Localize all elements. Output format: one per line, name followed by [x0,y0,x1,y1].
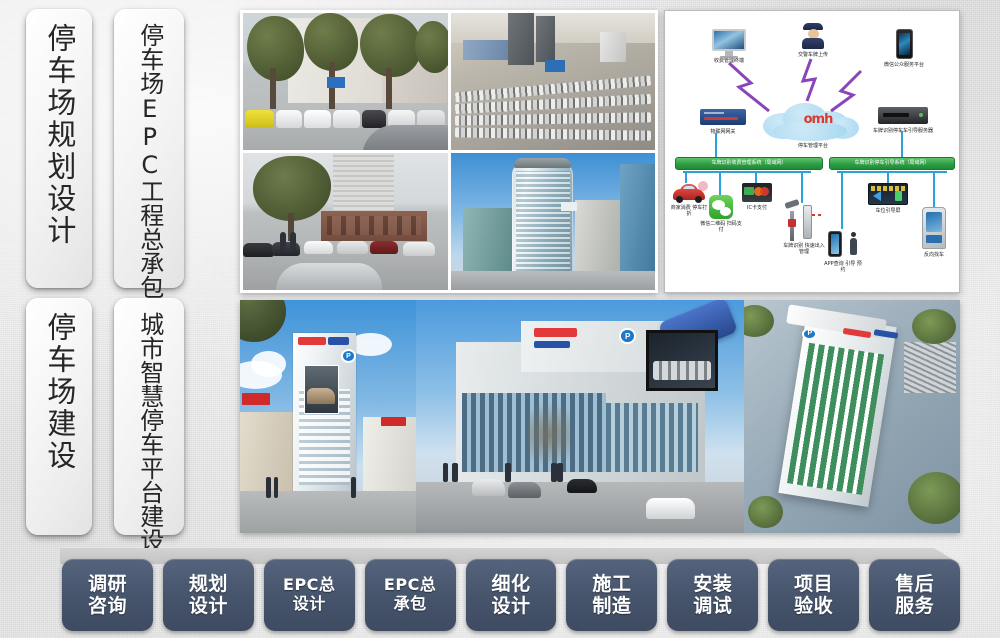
gate-icon [785,201,823,241]
connector-toll-1 [685,171,687,183]
process-step-line1: EPC总 [283,576,335,595]
photo-lot-with-brick-building [243,153,448,290]
card-icon [742,183,772,202]
item-app-booking-label: APP查询 引导 预约 [823,261,863,274]
node-traffic-police: 交警车牌上传 [777,23,849,58]
process-step-line2: 承包 [394,595,427,614]
node-lpr-server-label: 车牌识别停车车引导服务器 [855,128,951,134]
process-step-line2: 服务 [895,595,934,617]
cloud-platform-label-wrap: 停车管理平台 [773,143,853,149]
cloud-platform-label: 停车管理平台 [773,143,853,149]
process-step-research[interactable]: 调研 咨询 [62,559,153,631]
connector-guide-1 [841,171,843,229]
process-step-line1: 细化 [492,573,531,595]
business-card-smart-platform[interactable]: 城市智慧停车平台建设 [114,298,184,535]
architecture-render-board: P P P [240,300,960,533]
photo-office-tower [451,153,656,290]
process-steps: 调研 咨询 规划 设计 EPC总 设计 EPC总 承包 细化 设计 施工 制造 … [62,559,960,631]
cloud-platform-icon: omh [761,99,865,141]
process-step-line2: 设计 [492,595,531,617]
wechat-icon [709,195,733,219]
parking-sign-icon: P [619,328,635,344]
phone-icon [896,29,913,59]
item-wechat-qr-pay-label: 微信二维码 扫码支付 [699,221,743,234]
render-east-garage: P [416,300,744,533]
item-lpr-gate: 车牌识别 快速出入管理 [781,201,827,256]
item-space-led: 车位引导屏 [867,183,909,214]
process-step-line2: 设计 [293,595,326,614]
process-step-line1: 安装 [693,573,732,595]
process-step-installation[interactable]: 安装 调试 [667,559,758,631]
node-toll-terminal: 收费管理终端 [693,29,765,64]
connector-guide-3 [933,171,935,209]
system-architecture-diagram: omh 停车管理平台 收费管理终端 交警车牌上传 微信公众服务平台 物联网网关 … [664,10,960,293]
process-step-line1: 施工 [592,573,631,595]
business-card-label: 城市智慧停车平台建设 [136,312,161,552]
photo-aerial-parking [451,13,656,150]
business-card-label: 停车场规划设计 [42,23,76,247]
process-step-line2: 制造 [592,595,631,617]
item-reverse-find: 反向找车 [913,207,955,258]
process-step-line2: 设计 [189,595,228,617]
item-app-booking: APP查询 引导 预约 [823,229,863,274]
connector-toll-3 [755,171,757,183]
connector-toll-bus [683,171,811,173]
node-lpr-server: 车牌识别停车车引导服务器 [855,107,951,134]
item-reverse-find-label: 反向找车 [913,252,955,258]
process-step-manufacturing[interactable]: 施工 制造 [566,559,657,631]
subsystem-toll-system-title: 车牌识别收费管理系统（局域网） [675,157,823,170]
monitor-icon [712,29,746,55]
kiosk-icon [922,207,946,249]
photo-street-parking-lot [243,13,448,150]
connector-toll-2 [719,171,721,195]
process-step-line1: 调研 [88,573,127,595]
process-step-planning[interactable]: 规划 设计 [163,559,254,631]
process-step-line1: 项目 [794,573,833,595]
node-toll-terminal-label: 收费管理终端 [693,58,765,64]
process-step-line1: 售后 [895,573,934,595]
process-step-line2: 调试 [693,595,732,617]
item-space-led-label: 车位引导屏 [867,208,909,214]
connector-toll-4 [801,171,803,203]
process-step-after-sales[interactable]: 售后 服务 [869,559,960,631]
omh-logo: omh [795,112,841,128]
business-card-label: 停车场EPC工程总承包 [136,23,161,299]
business-card-construction[interactable]: 停车场建设 [26,298,92,535]
node-wechat-platform-label: 微信公众服务平台 [863,62,945,68]
parking-sign-icon: P [802,328,817,340]
app-icon [828,229,858,259]
business-card-label: 停车场建设 [42,312,76,472]
item-lpr-gate-label: 车牌识别 快速出入管理 [781,243,827,256]
process-step-line1: EPC总 [384,576,436,595]
photo-board [240,10,658,293]
render-aerial-tower: P [744,300,960,533]
connector-guide-2 [887,171,889,183]
connector-gateway [715,133,717,157]
police-icon [802,23,824,49]
led-screen-icon [868,183,908,205]
node-iot-gateway-label: 物联网网关 [683,129,763,135]
business-card-planning-design[interactable]: 停车场规划设计 [26,9,92,288]
node-iot-gateway: 物联网网关 [683,109,763,135]
process-step-line2: 咨询 [88,595,127,617]
node-wechat-platform: 微信公众服务平台 [863,29,945,68]
gateway-icon [700,109,746,125]
process-step-epc-design[interactable]: EPC总 设计 [264,559,355,631]
server-icon [878,107,928,124]
business-card-epc-contracting[interactable]: 停车场EPC工程总承包 [114,9,184,288]
connector-guide-bus [837,171,947,173]
process-step-acceptance[interactable]: 项目 验收 [768,559,859,631]
node-traffic-police-label: 交警车牌上传 [777,52,849,58]
process-step-line1: 规划 [189,573,228,595]
connector-server [901,131,903,157]
render-parking-tower: P [240,300,416,533]
item-ic-card-pay-label: IC卡支付 [737,205,777,211]
process-step-detail-design[interactable]: 细化 设计 [466,559,557,631]
subsystem-guidance-system-title: 车牌识别停车引导系统（局域网） [829,157,955,170]
process-step-line2: 验收 [794,595,833,617]
item-ic-card-pay: IC卡支付 [737,183,777,211]
process-step-epc-build[interactable]: EPC总 承包 [365,559,456,631]
